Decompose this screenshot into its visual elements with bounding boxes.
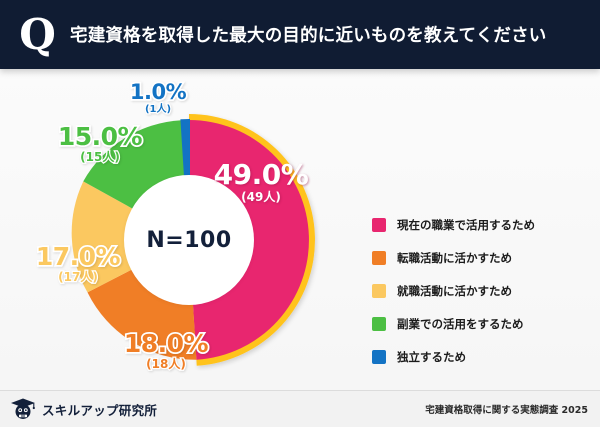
page-title: 宅建資格を取得した最大の目的に近いものを教えてください xyxy=(70,22,547,47)
brand-name: スキルアップ研究所 xyxy=(42,400,157,419)
slice-label-18-pct: 18.0% xyxy=(106,331,226,356)
slice-label-1-count: (1人) xyxy=(98,105,218,115)
legend-swatch-icon xyxy=(372,317,386,331)
legend-label: 転職活動に活かすため xyxy=(397,250,512,266)
slice-label-17-count: (17人) xyxy=(18,271,138,283)
legend-label: 就職活動に活かすため xyxy=(397,283,512,299)
header-bar: Q 宅建資格を取得した最大の目的に近いものを教えてください xyxy=(0,0,600,69)
slice-label-49-count: (49人) xyxy=(196,191,326,203)
legend-item-job-hunting[interactable]: 就職活動に活かすため xyxy=(372,283,535,299)
legend-swatch-icon xyxy=(372,251,386,265)
brand-block: スキルアップ研究所 xyxy=(10,397,157,421)
legend-label: 現在の職業で活用するため xyxy=(397,217,535,233)
legend-swatch-icon xyxy=(372,218,386,232)
legend-item-independence[interactable]: 独立するため xyxy=(372,349,535,365)
slice-label-49: 49.0% (49人) xyxy=(196,161,326,203)
legend-swatch-icon xyxy=(372,284,386,298)
footer-bar: スキルアップ研究所 宅建資格取得に関する実態調査 2025 xyxy=(0,390,600,427)
question-mark-icon: Q xyxy=(14,12,60,58)
donut-chart: N=100 49.0% (49人) 18.0% (18人) 17.0% (17人… xyxy=(58,109,320,371)
chart-panel: N=100 49.0% (49人) 18.0% (18人) 17.0% (17人… xyxy=(0,69,600,391)
slice-label-15-count: (15人) xyxy=(40,151,160,163)
graduation-cap-logo-icon xyxy=(10,397,36,421)
sample-size-label: N=100 xyxy=(146,228,231,253)
slice-label-15: 15.0% (15人) xyxy=(40,124,160,163)
legend-swatch-icon xyxy=(372,350,386,364)
slice-label-1-pct: 1.0% xyxy=(98,82,218,103)
slice-label-1: 1.0% (1人) xyxy=(98,82,218,115)
infographic-page: Q 宅建資格を取得した最大の目的に近いものを教えてください xyxy=(0,0,600,427)
survey-caption: 宅建資格取得に関する実態調査 2025 xyxy=(425,402,588,416)
legend-item-side-business[interactable]: 副業での活用をするため xyxy=(372,316,535,332)
slice-label-17: 17.0% (17人) xyxy=(18,244,138,283)
legend-item-current-job[interactable]: 現在の職業で活用するため xyxy=(372,217,535,233)
slice-label-18: 18.0% (18人) xyxy=(106,331,226,370)
slice-label-18-count: (18人) xyxy=(106,358,226,370)
legend-label: 副業での活用をするため xyxy=(397,316,524,332)
chart-legend: 現在の職業で活用するため 転職活動に活かすため 就職活動に活かすため 副業での活… xyxy=(372,217,535,365)
slice-label-15-pct: 15.0% xyxy=(40,124,160,149)
slice-label-49-pct: 49.0% xyxy=(196,161,326,189)
legend-item-job-change[interactable]: 転職活動に活かすため xyxy=(372,250,535,266)
slice-label-17-pct: 17.0% xyxy=(18,244,138,269)
legend-label: 独立するため xyxy=(397,349,466,365)
